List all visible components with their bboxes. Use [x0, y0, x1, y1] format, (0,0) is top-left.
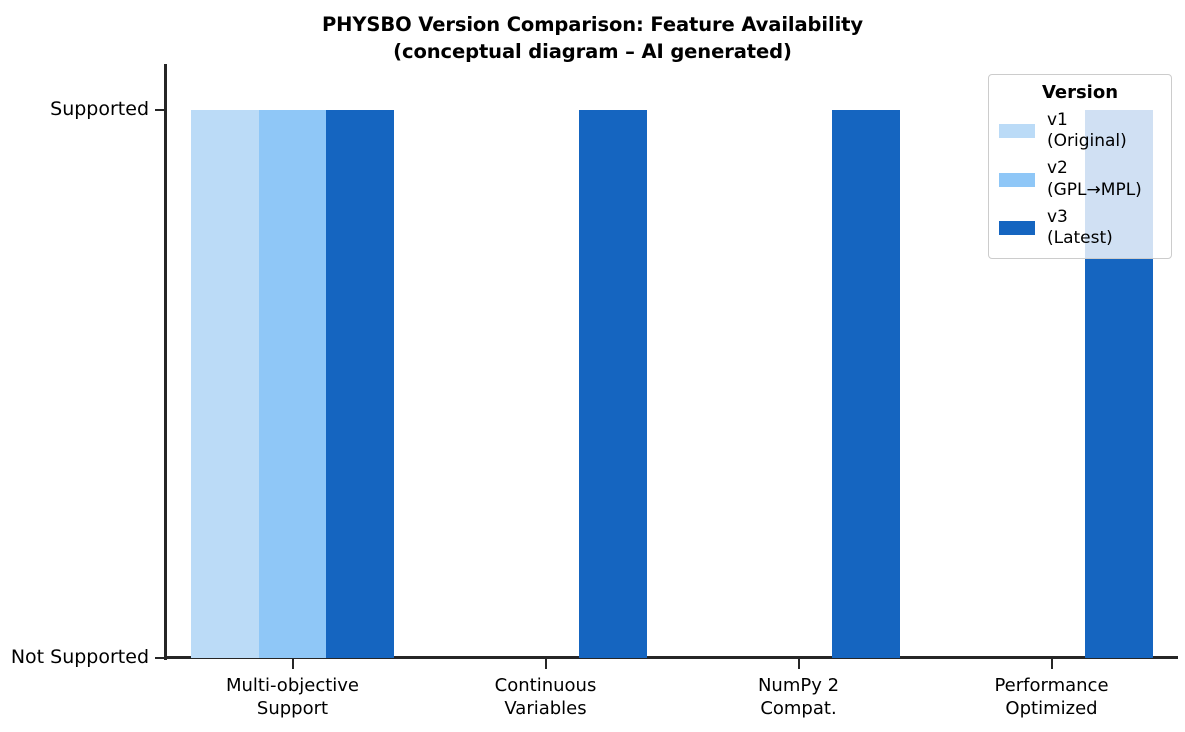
bar [259, 110, 326, 658]
bar [326, 110, 393, 658]
x-tick-label: NumPy 2 Compat. [758, 674, 839, 720]
y-tick-label: Not Supported [11, 648, 149, 667]
y-tick-label: Supported [50, 100, 149, 119]
x-tick-mark [545, 659, 547, 669]
bar [579, 110, 646, 658]
y-tick-mark [155, 109, 165, 111]
bar [832, 110, 899, 658]
legend-entries: v1 (Original)v2 (GPL→MPL)v3 (Latest) [999, 110, 1161, 250]
x-tick-mark [1051, 659, 1053, 669]
legend-entry[interactable]: v1 (Original) [999, 110, 1161, 153]
legend-label: v2 (GPL→MPL) [1047, 158, 1142, 201]
y-tick-mark [155, 657, 165, 659]
chart-figure: PHYSBO Version Comparison: Feature Avail… [0, 0, 1185, 732]
chart-title: PHYSBO Version Comparison: Feature Avail… [0, 12, 1185, 66]
legend: Version v1 (Original)v2 (GPL→MPL)v3 (Lat… [988, 74, 1172, 259]
x-tick-mark [292, 659, 294, 669]
legend-swatch-icon [999, 221, 1035, 235]
legend-entry[interactable]: v3 (Latest) [999, 207, 1161, 250]
legend-title: Version [999, 83, 1161, 103]
x-tick-mark [798, 659, 800, 669]
x-tick-label: Multi-objective Support [226, 674, 359, 720]
legend-swatch-icon [999, 124, 1035, 138]
legend-swatch-icon [999, 173, 1035, 187]
legend-label: v1 (Original) [1047, 110, 1127, 153]
bar [191, 110, 258, 658]
x-tick-label: Performance Optimized [994, 674, 1108, 720]
legend-label: v3 (Latest) [1047, 207, 1113, 250]
legend-entry[interactable]: v2 (GPL→MPL) [999, 158, 1161, 201]
x-tick-label: Continuous Variables [495, 674, 597, 720]
